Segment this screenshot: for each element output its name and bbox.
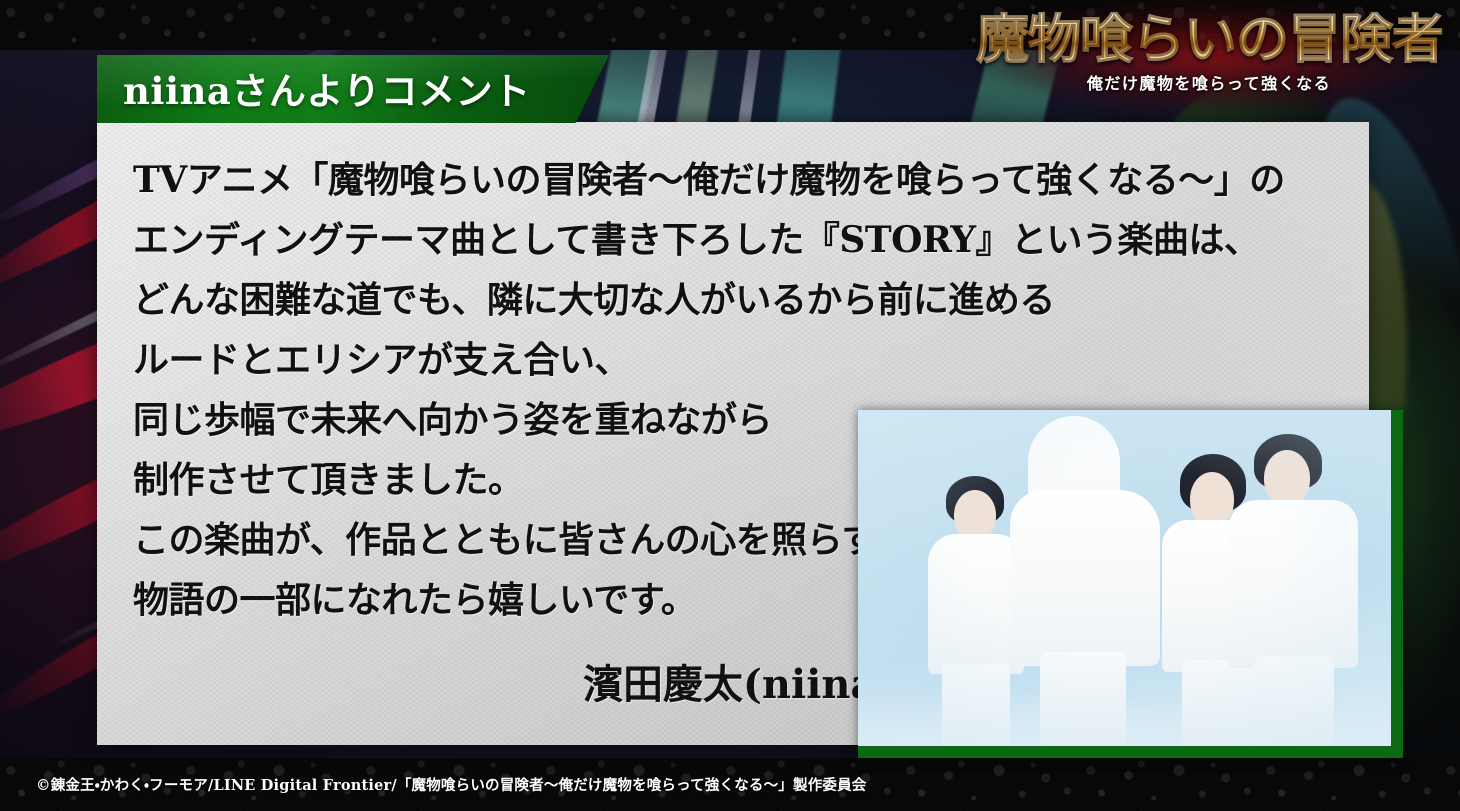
comment-line: TVアニメ「魔物喰らいの冒険者〜俺だけ魔物を喰らって強くなる〜」の [133, 150, 1345, 210]
band-member [1010, 416, 1160, 746]
logo-subtitle: 俺だけ魔物を喰らって強くなる [976, 70, 1442, 94]
comment-line: エンディングテーマ曲として書き下ろした『STORY』という楽曲は、 [133, 210, 1345, 270]
series-logo: 魔物喰らいの冒険者 俺だけ魔物を喰らって強くなる [976, 12, 1442, 124]
comment-banner-label: niinaさんよりコメント [123, 61, 531, 115]
member-legs [942, 664, 1010, 746]
artist-photo [858, 410, 1391, 746]
copyright-notice: ©錬金王・かわく・フーモア/LINE Digital Frontier/「魔物喰… [36, 774, 867, 795]
comment-line: ルードとエリシアが支え合い、 [133, 330, 1345, 390]
member-body [1228, 500, 1358, 668]
member-legs [1040, 652, 1126, 746]
member-legs [1254, 656, 1334, 746]
logo-title: 魔物喰らいの冒険者 [976, 12, 1442, 68]
member-head [954, 490, 996, 540]
member-head [1264, 450, 1310, 506]
comment-line: どんな困難な道でも、隣に大切な人がいるから前に進める [133, 270, 1345, 330]
member-body [1010, 490, 1160, 666]
artist-photo-frame [858, 410, 1403, 758]
band-member [1226, 434, 1362, 746]
promo-visual-stage: 魔物喰らいの冒険者 俺だけ魔物を喰らって強くなる niinaさんよりコメント T… [0, 0, 1460, 811]
comment-banner: niinaさんよりコメント [97, 55, 609, 123]
